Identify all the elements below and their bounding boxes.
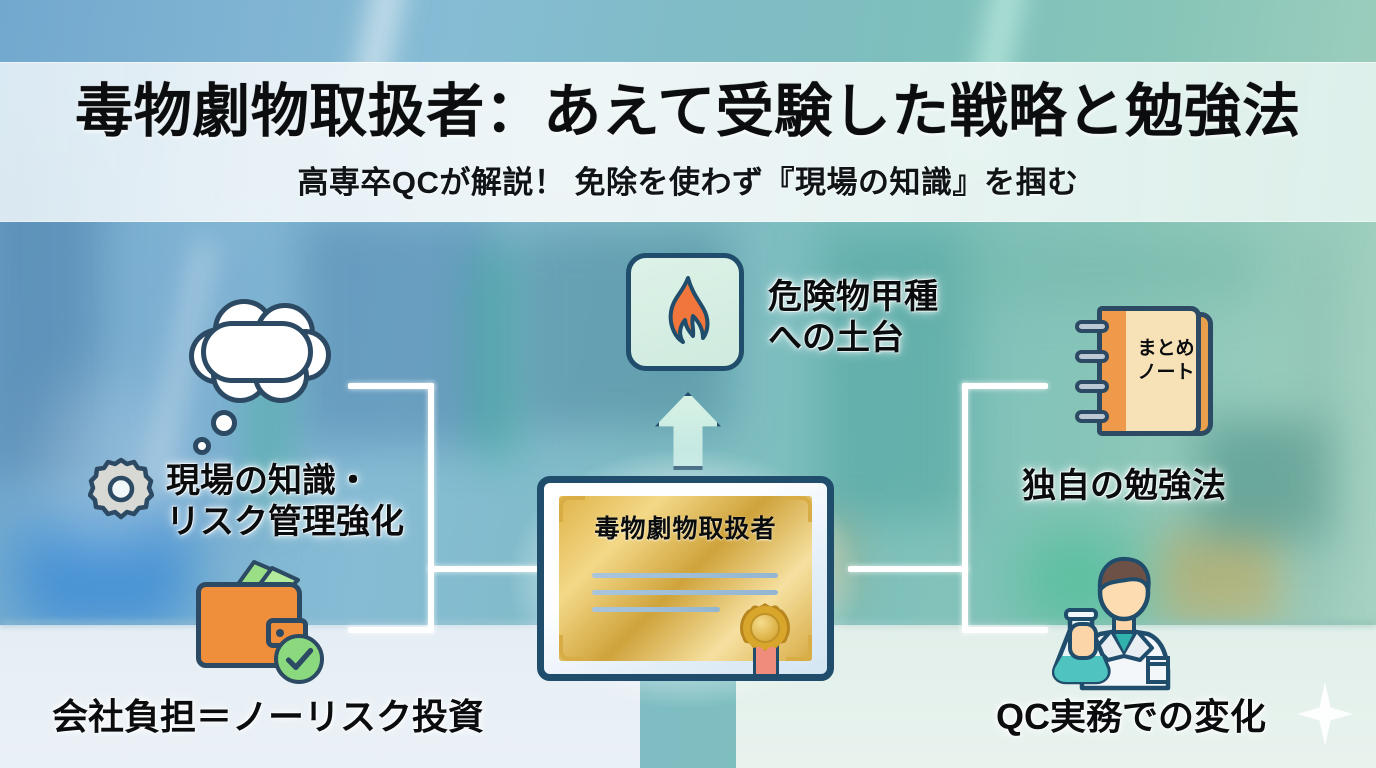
notebook-ring (1075, 410, 1109, 423)
notebook-ring (1075, 380, 1109, 393)
flame-icon-tile (626, 253, 744, 371)
top-node-label: 危険物甲種 への土台 (768, 277, 938, 360)
notebook-front-cover: まとめ ノート (1097, 306, 1201, 436)
seal-disc (750, 613, 780, 643)
connector-left-bottom-arm (348, 627, 434, 633)
gear-icon (88, 457, 154, 523)
certificate-text-line (592, 607, 720, 612)
connector-left-top-arm (348, 383, 434, 389)
connector-right-top-arm (962, 383, 1048, 389)
connector-right-bottom-arm (962, 627, 1048, 633)
thought-cloud-icon (183, 297, 335, 409)
left-node-1-label: 現場の知識・ リスク管理強化 (166, 461, 404, 544)
certificate-corner-bl (559, 635, 585, 661)
thought-bubble-large (211, 410, 237, 436)
wallet-clasp-dot (276, 629, 284, 637)
connector-left-vertical (428, 383, 434, 633)
flame-icon (659, 276, 717, 356)
page-title: 毒物劇物取扱者：あえて受験した戦略と勉強法 (75, 83, 1301, 141)
title-banner: 毒物劇物取扱者：あえて受験した戦略と勉強法 高専卒QCが解説！ 免除を使わず『現… (0, 62, 1376, 222)
certificate-text-line (592, 573, 778, 578)
notebook-ring (1075, 320, 1109, 333)
certificate-card: 毒物劇物取扱者 (537, 476, 834, 681)
bg-teal-shelf (960, 240, 1260, 300)
notebook-ring (1075, 350, 1109, 363)
infographic-canvas: 毒物劇物取扱者：あえて受験した戦略と勉強法 高専卒QCが解説！ 免除を使わず『現… (0, 0, 1376, 768)
right-node-1-label: 独自の勉強法 (1022, 466, 1226, 507)
right-node-2-label: QC実務での変化 (996, 695, 1266, 739)
gold-seal-icon (740, 603, 790, 653)
connector-right-center-stub (848, 566, 968, 572)
scientist-flask-icon (1052, 552, 1192, 692)
bg-stand-pole (1310, 240, 1324, 620)
certificate-frame: 毒物劇物取扱者 (537, 476, 834, 681)
wallet-icon (196, 560, 326, 680)
bg-green-tube-2 (480, 250, 510, 460)
page-subtitle: 高専卒QCが解説！ 免除を使わず『現場の知識』を掴む (297, 157, 1078, 202)
certificate-title: 毒物劇物取扱者 (544, 509, 827, 545)
connector-right-vertical (962, 383, 968, 633)
thought-bubble-small (193, 437, 211, 455)
notebook-icon: まとめ ノート (1087, 306, 1217, 441)
certificate-text-line (592, 590, 778, 595)
left-node-2-label: 会社負担＝ノーリスク投資 (52, 695, 484, 739)
notebook-label: まとめ ノート (1128, 337, 1201, 385)
check-badge-icon (274, 634, 324, 684)
